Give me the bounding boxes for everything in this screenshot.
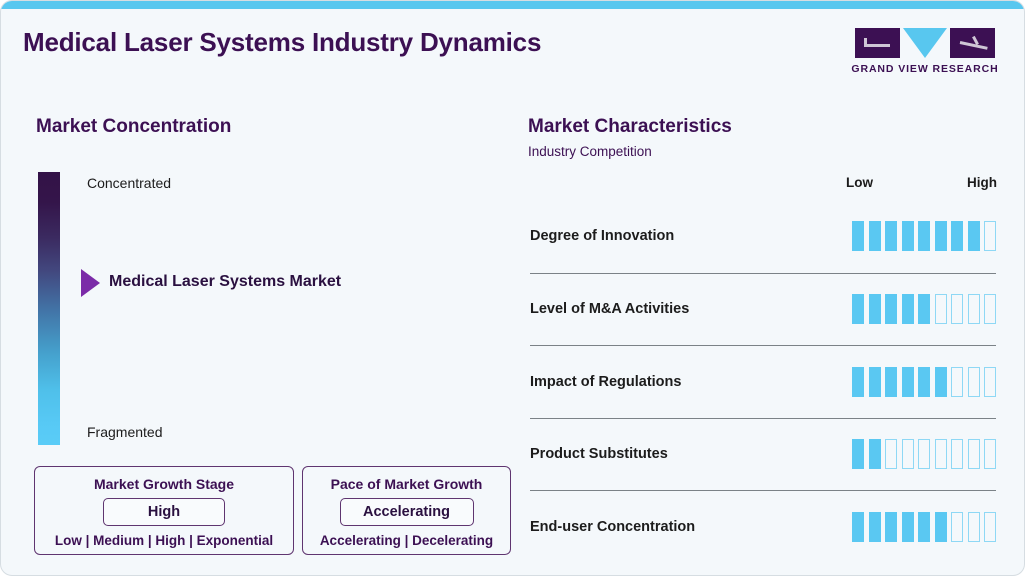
rating-bar-filled [935,221,947,251]
rating-bar-filled [852,512,864,542]
rating-label: Product Substitutes [530,446,668,462]
rating-bar-empty [968,294,980,324]
rating-bar-empty [935,294,947,324]
rating-bar-empty [984,221,996,251]
rating-row: Impact of Regulations [530,345,996,418]
rating-bar-group [852,512,996,542]
market-characteristics-title: Market Characteristics [528,116,732,138]
rating-row: Level of M&A Activities [530,273,996,346]
rating-bar-empty [951,367,963,397]
market-position-label: Medical Laser Systems Market [109,273,341,291]
logo-r-icon [950,28,995,58]
rating-bar-filled [885,294,897,324]
logo-text: GRAND VIEW RESEARCH [850,63,1000,75]
rating-bar-filled [852,367,864,397]
rating-bar-filled [869,221,881,251]
rating-bar-filled [918,512,930,542]
rating-bar-empty [951,512,963,542]
concentrated-label: Concentrated [87,175,171,191]
rating-bar-filled [918,367,930,397]
rating-label: Level of M&A Activities [530,301,689,317]
rating-bar-filled [852,221,864,251]
rating-bar-filled [968,221,980,251]
rating-bar-filled [852,439,864,469]
market-growth-stage-title: Market Growth Stage [35,476,293,492]
rating-bar-filled [869,367,881,397]
market-concentration-title: Market Concentration [36,116,231,138]
rating-bar-filled [935,512,947,542]
concentration-gradient-scale [38,172,60,445]
rating-label: Degree of Innovation [530,228,674,244]
rating-bar-empty [984,367,996,397]
rating-bar-empty [951,294,963,324]
rating-bar-empty [935,439,947,469]
market-growth-stage-box: Market Growth Stage High Low | Medium | … [34,466,294,555]
rating-bar-filled [918,294,930,324]
rating-bar-filled [885,367,897,397]
rating-bar-filled [869,439,881,469]
pace-of-market-growth-title: Pace of Market Growth [303,476,510,492]
rating-bar-empty [968,512,980,542]
rating-bar-filled [935,367,947,397]
rating-bar-group [852,439,996,469]
rating-bar-filled [869,512,881,542]
rating-label: Impact of Regulations [530,374,681,390]
rating-bar-filled [852,294,864,324]
scale-high-label: High [967,175,997,190]
rating-bar-empty [968,367,980,397]
rating-bar-empty [918,439,930,469]
rating-bar-empty [902,439,914,469]
pace-of-market-growth-box: Pace of Market Growth Accelerating Accel… [302,466,511,555]
rating-bar-empty [951,439,963,469]
scale-low-label: Low [846,175,873,190]
rating-row: End-user Concentration [530,490,996,563]
rating-bar-filled [902,294,914,324]
logo-v-triangle-icon [903,28,947,58]
rating-bar-empty [885,439,897,469]
rating-label: End-user Concentration [530,519,695,535]
rating-bar-filled [902,367,914,397]
rating-bar-filled [918,221,930,251]
rating-row: Product Substitutes [530,418,996,491]
rating-rows: Degree of InnovationLevel of M&A Activit… [530,200,996,563]
market-growth-stage-options: Low | Medium | High | Exponential [35,533,293,548]
pace-of-market-growth-options: Accelerating | Decelerating [303,533,510,548]
rating-row: Degree of Innovation [530,200,996,273]
top-accent-bar [1,1,1025,9]
grand-view-research-logo: GRAND VIEW RESEARCH [850,28,1000,75]
rating-bar-group [852,221,996,251]
rating-bar-empty [984,294,996,324]
logo-marks [850,28,1000,58]
rating-bar-filled [885,221,897,251]
pace-of-market-growth-value: Accelerating [340,498,474,526]
market-position-arrow-icon [81,269,100,297]
fragmented-label: Fragmented [87,424,162,440]
market-growth-stage-value: High [103,498,225,526]
rating-bar-empty [968,439,980,469]
rating-bar-filled [951,221,963,251]
logo-g-icon [855,28,900,58]
page-title: Medical Laser Systems Industry Dynamics [23,27,541,58]
market-characteristics-subtitle: Industry Competition [528,144,652,159]
rating-bar-empty [984,512,996,542]
rating-bar-filled [885,512,897,542]
rating-bar-empty [984,439,996,469]
infographic-page: Medical Laser Systems Industry Dynamics … [0,0,1025,576]
rating-bar-group [852,294,996,324]
rating-bar-group [852,367,996,397]
rating-bar-filled [869,294,881,324]
rating-bar-filled [902,512,914,542]
rating-bar-filled [902,221,914,251]
